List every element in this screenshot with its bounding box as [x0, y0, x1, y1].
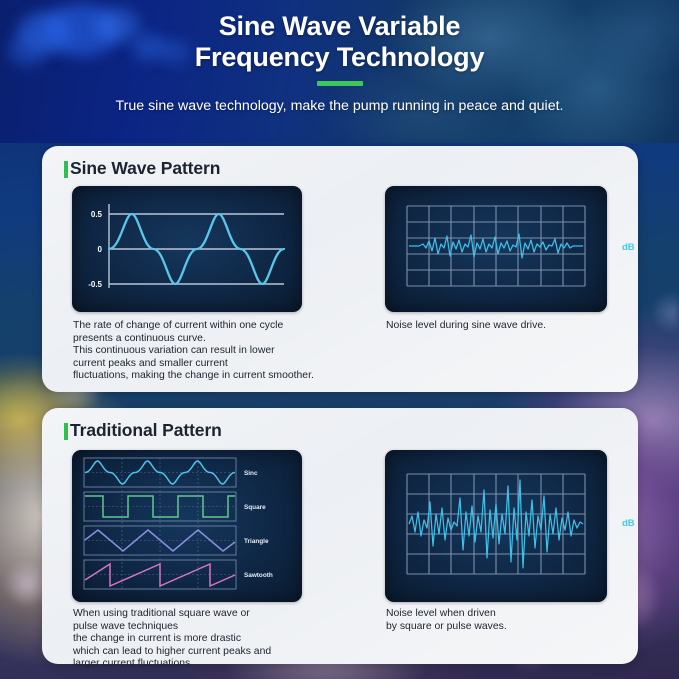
noise-sine-chart-panel [385, 186, 607, 312]
traditional-waveforms-svg: Sinc Square Triangle Sawtooth [72, 450, 302, 602]
traditional-waveforms-panel: Sinc Square Triangle Sawtooth [72, 450, 302, 602]
db-label-square-noise: dB [622, 518, 635, 529]
noise-high-svg [385, 450, 607, 602]
page-title: Sine Wave Variable Frequency Technology [0, 0, 679, 73]
sine-wave-chart-panel: 0.5 0 -0.5 [72, 186, 302, 312]
green-accent-bar-icon [64, 161, 68, 178]
noise2-grid [407, 474, 585, 574]
ytick-label-0.5: 0.5 [91, 210, 103, 219]
noise-sine-caption: Noise level during sine wave drive. [386, 320, 621, 333]
infographic-page: Sine Wave Variable Frequency Technology … [0, 0, 679, 679]
sine-caption-text: The rate of change of current within one… [73, 320, 373, 383]
card-traditional-pattern: Traditional Pattern [42, 408, 638, 664]
sinc-waveform [85, 461, 235, 484]
sine-wave-svg: 0.5 0 -0.5 [72, 186, 302, 312]
noise-square-caption: Noise level when driven by square or pul… [386, 608, 621, 633]
noise-low-svg [385, 186, 607, 312]
waveform-label-square: Square [244, 504, 266, 511]
green-accent-bar-icon-2 [64, 423, 68, 440]
waveform-label-sawtooth: Sawtooth [244, 572, 273, 579]
card-sine-title: Sine Wave Pattern [70, 158, 220, 179]
traditional-caption-text: When using traditional square wave or pu… [73, 608, 373, 671]
card-sine-wave-pattern: Sine Wave Pattern 0.5 0 -0.5 The rate of… [42, 146, 638, 392]
waveform-label-sinc: Sinc [244, 470, 258, 477]
page-title-line-2: Frequency Technology [0, 42, 679, 73]
db-label-sine-noise: dB [622, 242, 635, 253]
ytick-label-0: 0 [98, 245, 103, 254]
ytick-label--0.5: -0.5 [88, 280, 102, 289]
sawtooth-waveform [85, 564, 235, 586]
waveform-label-triangle: Triangle [244, 538, 269, 545]
noise-square-chart-panel [385, 450, 607, 602]
page-title-line-1: Sine Wave Variable [0, 11, 679, 42]
title-accent-divider [317, 81, 363, 86]
header-banner: Sine Wave Variable Frequency Technology … [0, 0, 679, 143]
card-traditional-title: Traditional Pattern [70, 420, 222, 441]
page-subtitle: True sine wave technology, make the pump… [0, 98, 679, 114]
